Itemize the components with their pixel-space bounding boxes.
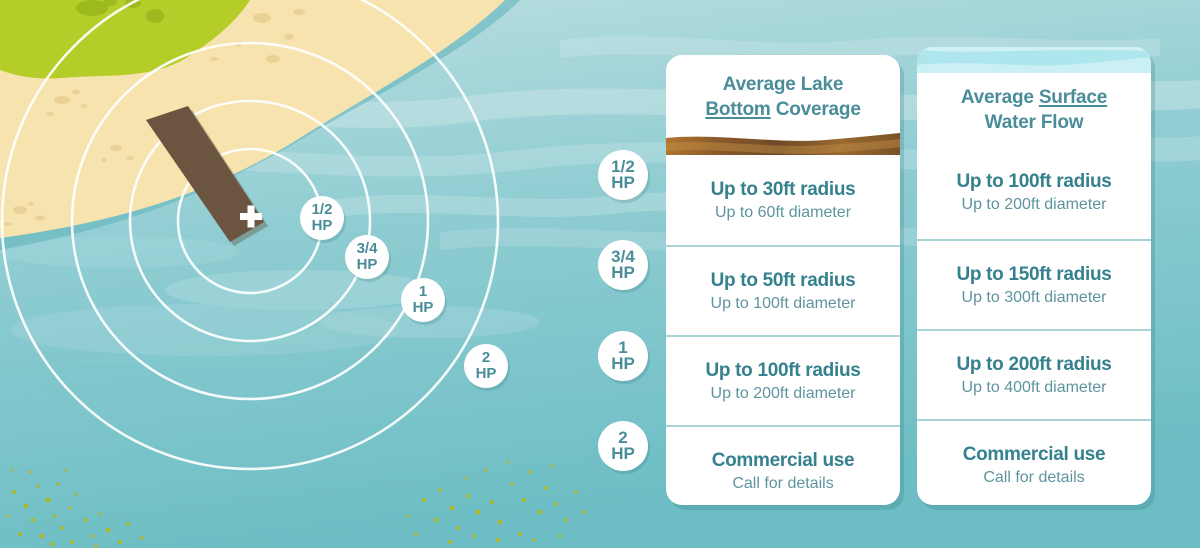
lake-bottom-brown-band-icon: [666, 132, 900, 155]
row-title: Up to 200ft radius: [956, 353, 1111, 376]
table-row: Up to 150ft radius Up to 300ft diameter: [917, 239, 1151, 329]
row-subtitle: Up to 300ft diameter: [962, 287, 1107, 308]
table-row: Up to 200ft radius Up to 400ft diameter: [917, 329, 1151, 419]
row-subtitle: Up to 200ft diameter: [962, 194, 1107, 215]
row-title: Up to 150ft radius: [956, 263, 1111, 286]
row-title: Up to 50ft radius: [711, 269, 856, 292]
card-bottom-heading-rest: Coverage: [771, 99, 861, 120]
row-subtitle: Call for details: [983, 467, 1084, 488]
table-row: Commercial use Call for details: [917, 419, 1151, 505]
card-bottom-rows: Up to 30ft radius Up to 60ft diameter Up…: [666, 155, 900, 505]
card-bottom-heading: Average Lake Bottom Coverage: [666, 55, 900, 132]
card-surface-heading: Average Surface Water Flow: [917, 73, 1151, 145]
card-average-surface-water-flow: Average Surface Water Flow Up to 100ft r…: [917, 47, 1151, 505]
hp-power-label: 1: [419, 284, 427, 300]
hp-unit-label: HP: [611, 356, 635, 372]
row-subtitle: Up to 100ft diameter: [711, 293, 856, 314]
lake-hp-badge: 1 HP: [401, 278, 445, 322]
table-hp-badge-half: 1/2 HP: [598, 150, 648, 200]
row-title: Up to 100ft radius: [956, 170, 1111, 193]
lake-hp-badge: 2 HP: [464, 344, 508, 388]
table-hp-badge-two: 2 HP: [598, 421, 648, 471]
card-surface-heading-line1: Average Surface: [925, 85, 1143, 110]
card-bottom-heading-line2: Bottom Coverage: [674, 97, 892, 122]
infographic-stage: 1/2 HP 3/4 HP 1 HP 2 HP 1/2 HP 3/4 HP 1 …: [0, 0, 1200, 548]
hp-unit-label: HP: [357, 257, 378, 273]
lake-hp-badge: 3/4 HP: [345, 235, 389, 279]
table-hp-badge-one: 1 HP: [598, 331, 648, 381]
hp-power-label: 1/2: [312, 202, 333, 218]
table-hp-badge-three-quarter: 3/4 HP: [598, 240, 648, 290]
row-title: Up to 30ft radius: [711, 178, 856, 201]
card-average-lake-bottom-coverage: Average Lake Bottom Coverage Up to 30ft …: [666, 55, 900, 505]
row-subtitle: Up to 60ft diameter: [715, 202, 851, 223]
card-surface-heading-line2: Water Flow: [925, 110, 1143, 135]
table-row: Up to 30ft radius Up to 60ft diameter: [666, 155, 900, 245]
row-title: Commercial use: [712, 449, 855, 472]
row-subtitle: Call for details: [732, 473, 833, 494]
hp-unit-label: HP: [476, 366, 497, 382]
lake-hp-badge: 1/2 HP: [300, 196, 344, 240]
row-subtitle: Up to 200ft diameter: [711, 383, 856, 404]
surface-water-blue-band-icon: [917, 47, 1151, 73]
hp-unit-label: HP: [611, 446, 635, 462]
row-title: Up to 100ft radius: [705, 359, 860, 382]
row-subtitle: Up to 400ft diameter: [962, 377, 1107, 398]
row-title: Commercial use: [963, 443, 1106, 466]
card-bottom-heading-underlined: Bottom: [705, 99, 770, 120]
hp-power-label: 2: [482, 350, 490, 366]
hp-unit-label: HP: [413, 300, 434, 316]
card-surface-rows: Up to 100ft radius Up to 200ft diameter …: [917, 145, 1151, 505]
card-surface-heading-underlined: Surface: [1039, 87, 1107, 108]
hp-unit-label: HP: [312, 218, 333, 234]
hp-unit-label: HP: [611, 175, 635, 191]
table-row: Up to 50ft radius Up to 100ft diameter: [666, 245, 900, 335]
card-bottom-heading-line1: Average Lake: [674, 72, 892, 97]
hp-unit-label: HP: [611, 265, 635, 281]
table-row: Up to 100ft radius Up to 200ft diameter: [917, 145, 1151, 239]
card-surface-heading-rest: Average: [961, 87, 1039, 108]
table-row: Commercial use Call for details: [666, 425, 900, 505]
hp-power-label: 3/4: [357, 241, 378, 257]
table-row: Up to 100ft radius Up to 200ft diameter: [666, 335, 900, 425]
